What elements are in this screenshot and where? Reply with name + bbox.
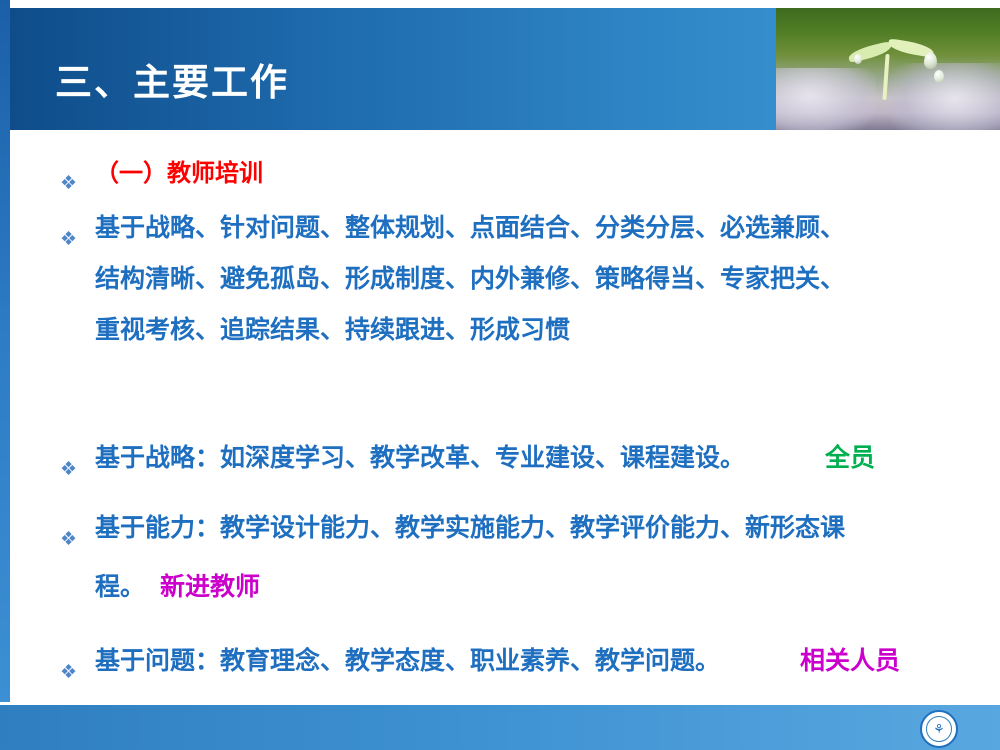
left-accent-bar bbox=[0, 0, 10, 750]
slide: 三、主要工作 ❖ （一）教师培训 ❖ 基于战略、针对问题、整体规划、点面结合、分… bbox=[0, 0, 1000, 750]
heading-teacher-training-text: （一）教师培训 bbox=[95, 148, 263, 199]
problem-line-tag: 相关人员 bbox=[800, 636, 900, 687]
problem-line-text: 基于问题：教育理念、教学态度、职业素养、教学问题。 bbox=[95, 636, 720, 687]
water-drop-icon bbox=[924, 52, 937, 69]
water-drop-tiny-icon bbox=[854, 54, 862, 64]
principles-line-1: 基于战略、针对问题、整体规划、点面结合、分类分层、必选兼顾、 bbox=[95, 203, 845, 254]
principles-line-3: 重视考核、追踪结果、持续跟进、形成习惯 bbox=[95, 305, 570, 356]
logo-inner-ring: ⚘ bbox=[926, 716, 952, 742]
ability-line-2: 程。 bbox=[95, 562, 145, 613]
banner-photo-sprout bbox=[776, 8, 1000, 130]
footer-bar bbox=[0, 705, 1000, 750]
page-title: 三、主要工作 bbox=[55, 52, 289, 106]
slide-body: ❖ （一）教师培训 ❖ 基于战略、针对问题、整体规划、点面结合、分类分层、必选兼… bbox=[10, 140, 1000, 700]
photo-bokeh-right bbox=[890, 63, 1000, 130]
principles-line-2: 结构清晰、避免孤岛、形成制度、内外兼修、策略得当、专家把关、 bbox=[95, 254, 845, 305]
strategy-line-text: 基于战略：如深度学习、教学改革、专业建设、课程建设。 bbox=[95, 433, 745, 484]
ability-line-1: 基于能力：教学设计能力、教学实施能力、教学评价能力、新形态课 bbox=[95, 503, 845, 554]
ability-line-tag: 新进教师 bbox=[160, 562, 260, 613]
strategy-line-tag: 全员 bbox=[825, 433, 875, 484]
photo-bokeh-left bbox=[776, 68, 876, 130]
bullet-diamond-icon: ❖ bbox=[60, 460, 77, 479]
logo-glyph-icon: ⚘ bbox=[933, 723, 945, 736]
bullet-diamond-icon: ❖ bbox=[60, 530, 77, 549]
bullet-diamond-icon: ❖ bbox=[60, 174, 77, 193]
water-drop-small-icon bbox=[934, 70, 944, 83]
bullet-diamond-icon: ❖ bbox=[60, 230, 77, 249]
organization-logo: ⚘ bbox=[920, 710, 958, 748]
bullet-diamond-icon: ❖ bbox=[60, 663, 77, 682]
